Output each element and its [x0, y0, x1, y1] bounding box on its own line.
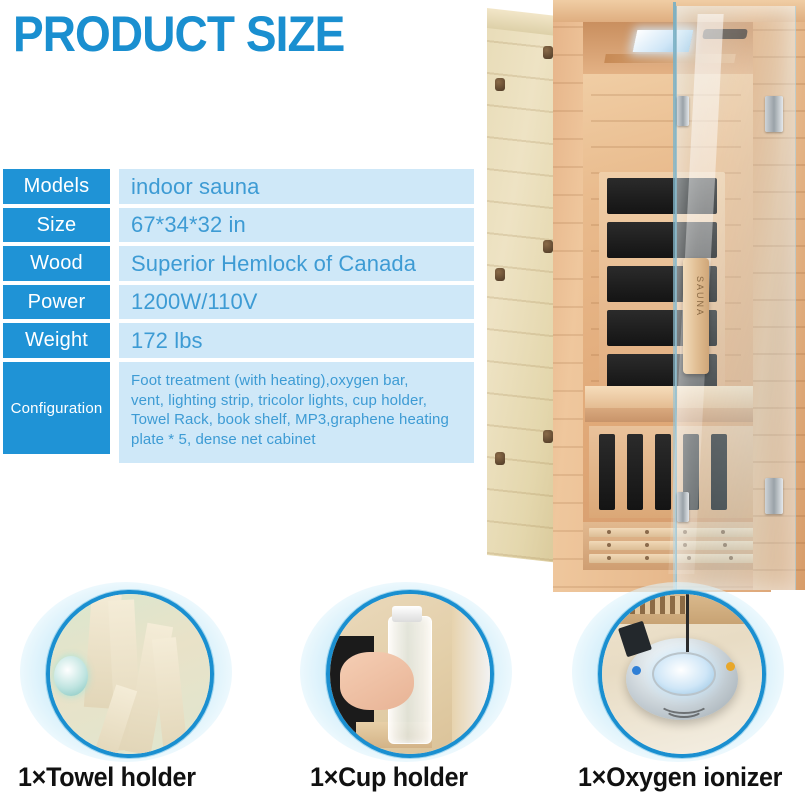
feature-caption-oxygen-ionizer: 1×Oxygen ionizer — [578, 762, 782, 793]
spec-value-size: 67*34*32 in — [119, 208, 474, 242]
spec-value-power: 1200W/110V — [119, 285, 474, 319]
spec-value-models: indoor sauna — [119, 169, 474, 204]
feature-photo-cup-holder — [326, 590, 494, 758]
cabinet-hinge-icon — [543, 430, 553, 443]
table-row: Power 1200W/110V — [3, 285, 474, 319]
table-row: Configuration Foot treatment (with heati… — [3, 362, 474, 463]
door-hinge-icon — [765, 96, 783, 132]
cabinet-hinge-icon — [495, 78, 505, 91]
feature-cup-holder — [300, 582, 512, 762]
spec-label-models: Models — [3, 169, 110, 204]
door-hinge-icon — [677, 492, 689, 522]
towel-hook-icon — [54, 656, 88, 696]
spec-label-weight: Weight — [3, 323, 110, 358]
feature-caption-towel-holder: 1×Towel holder — [18, 762, 196, 793]
feature-photo-towel-holder — [46, 590, 214, 758]
spec-label-size: Size — [3, 208, 110, 242]
page-title: PRODUCT SIZE — [13, 6, 344, 62]
carbon-heater-plate — [655, 434, 671, 510]
spec-label-power: Power — [3, 285, 110, 319]
spec-label-configuration: Configuration — [3, 362, 110, 454]
feature-photo-oxygen-ionizer — [598, 590, 766, 758]
spec-value-weight: 172 lbs — [119, 323, 474, 358]
bottle-cap — [392, 606, 422, 622]
hand — [340, 652, 414, 710]
status-led-amber — [726, 662, 735, 671]
product-spec-table: Models indoor sauna Size 67*34*32 in Woo… — [3, 169, 474, 467]
power-wire — [686, 594, 689, 652]
spec-label-wood: Wood — [3, 246, 110, 281]
carbon-heater-plate — [599, 434, 615, 510]
feature-towel-holder — [20, 582, 232, 762]
sauna-product-photo: SAUNA — [487, 0, 809, 600]
feature-caption-cup-holder: 1×Cup holder — [310, 762, 468, 793]
handle-brand-text: SAUNA — [687, 276, 705, 317]
table-row: Size 67*34*32 in — [3, 208, 474, 242]
cabinet-hinge-icon — [543, 240, 553, 253]
door-hinge-icon — [677, 96, 689, 126]
table-row: Models indoor sauna — [3, 169, 474, 204]
carbon-heater-plate — [627, 434, 643, 510]
spec-value-wood: Superior Hemlock of Canada — [119, 246, 474, 281]
status-led-blue — [632, 666, 641, 675]
cabinet-hinge-icon — [543, 46, 553, 59]
ionizer-emitter — [652, 652, 716, 696]
table-row: Wood Superior Hemlock of Canada — [3, 246, 474, 281]
cabinet-hinge-icon — [495, 452, 505, 465]
spec-value-configuration: Foot treatment (with heating),oxygen bar… — [119, 362, 474, 463]
sauna-side-panel-grain — [487, 10, 559, 563]
table-row: Weight 172 lbs — [3, 323, 474, 358]
feature-oxygen-ionizer — [572, 582, 784, 762]
vent-grille-icon — [620, 596, 686, 614]
cabinet-hinge-icon — [495, 268, 505, 281]
sauna-door-handle: SAUNA — [683, 258, 709, 374]
door-hinge-icon — [765, 478, 783, 514]
